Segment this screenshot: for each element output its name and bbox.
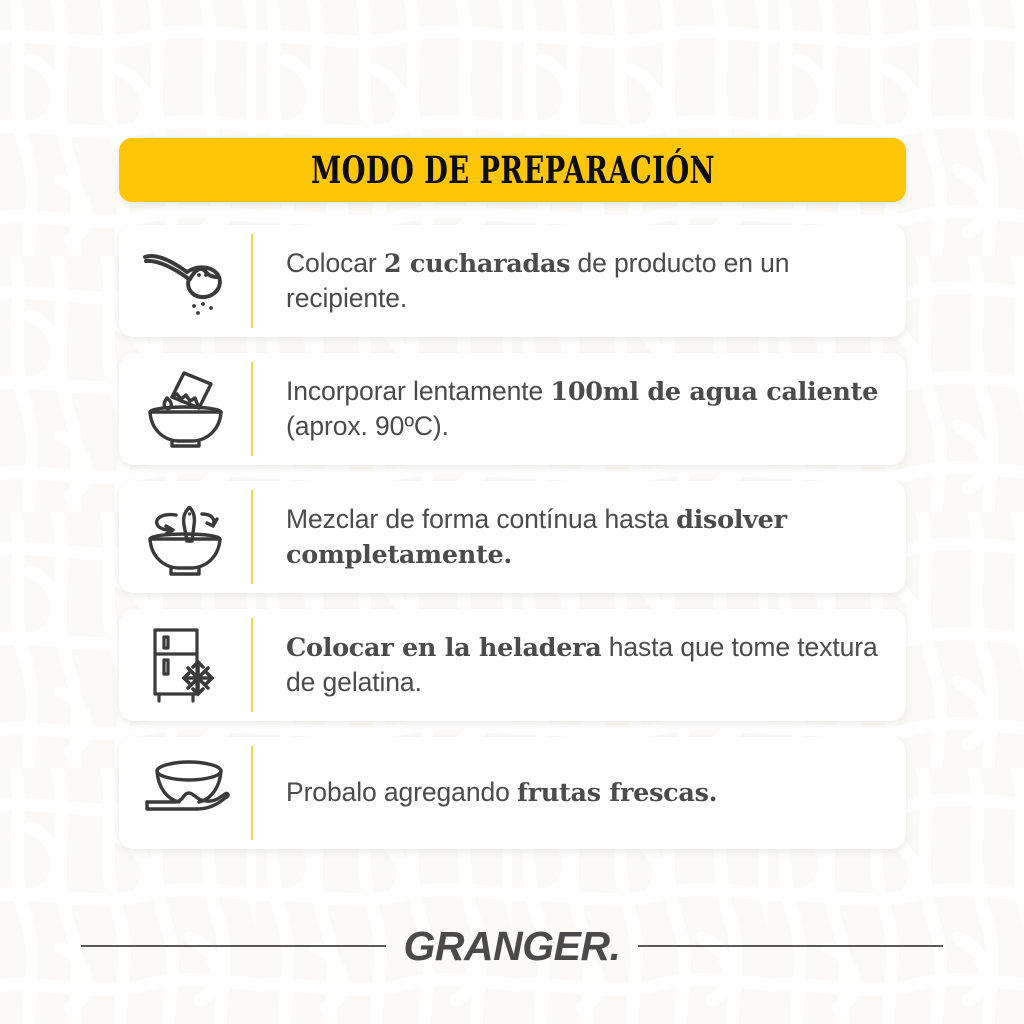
step-text-cell: Probalo agregando frutas frescas. [253, 737, 906, 849]
step-text-cell: Mezclar de forma contínua hasta disolver… [253, 481, 906, 593]
step-icon-cell [119, 609, 251, 721]
step-text: Mezclar de forma contínua hasta disolver… [286, 502, 888, 572]
step-text: Probalo agregando frutas frescas. [286, 775, 717, 810]
step-text-cell: Incorporar lentamente 100ml de agua cali… [253, 353, 906, 465]
step-icon-cell [119, 225, 251, 337]
step-card: Probalo agregando frutas frescas. [119, 737, 906, 849]
step-text-cell: Colocar 2 cucharadas de producto en un r… [253, 225, 906, 337]
step-card: Mezclar de forma contínua hasta disolver… [119, 481, 906, 593]
spoon-with-powder-icon [139, 246, 231, 316]
step-card: Colocar en la heladera hasta que tome te… [119, 609, 906, 721]
refrigerator-snowflake-icon [142, 622, 228, 708]
step-card: Colocar 2 cucharadas de producto en un r… [119, 225, 906, 337]
bowl-stirring-spoon-icon [139, 497, 231, 577]
brand-logo: GRANGER. [386, 926, 639, 967]
pouring-sachet-into-bowl-icon [141, 368, 229, 450]
title-banner: MODO DE PREPARACIÓN [119, 138, 906, 202]
step-text: Colocar en la heladera hasta que tome te… [286, 630, 888, 700]
step-text: Incorporar lentamente 100ml de agua cali… [286, 374, 888, 444]
step-text-cell: Colocar en la heladera hasta que tome te… [253, 609, 906, 721]
footer-rule-right [638, 945, 943, 947]
page-title: MODO DE PREPARACIÓN [311, 152, 715, 189]
step-text: Colocar 2 cucharadas de producto en un r… [286, 246, 888, 316]
step-icon-cell [119, 737, 251, 849]
footer: GRANGER. [0, 918, 1024, 974]
footer-rule-left [81, 945, 386, 947]
bowl-on-hand-icon [137, 758, 233, 828]
infographic-page: MODO DE PREPARACIÓN [0, 0, 1024, 1024]
step-icon-cell [119, 353, 251, 465]
step-icon-cell [119, 481, 251, 593]
step-card: Incorporar lentamente 100ml de agua cali… [119, 353, 906, 465]
